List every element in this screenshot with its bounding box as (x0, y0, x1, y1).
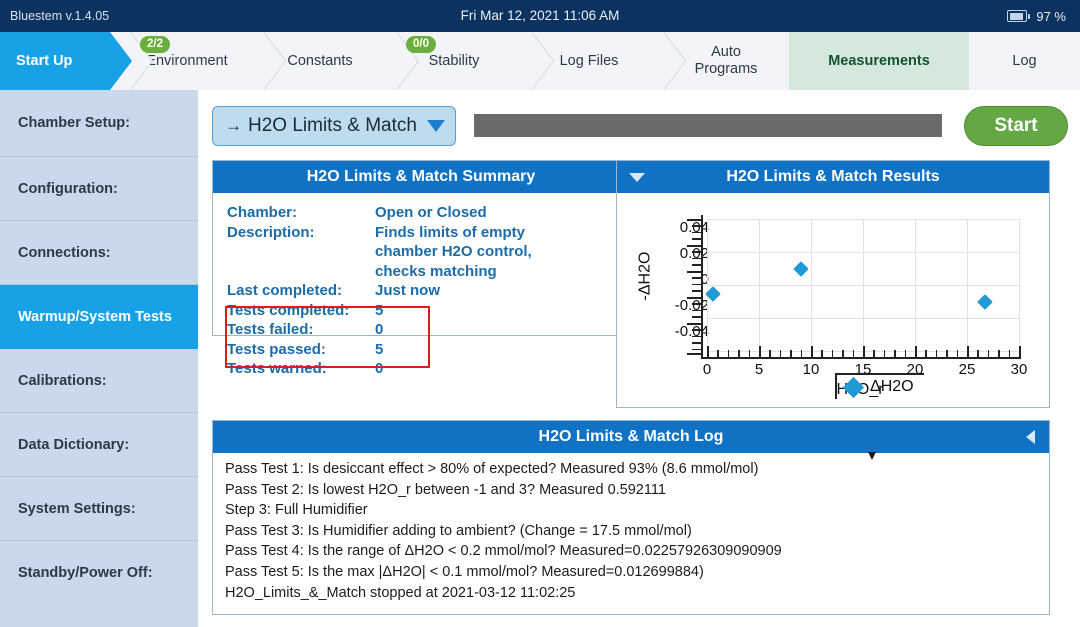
summary-value: 0 (375, 359, 383, 379)
summary-value: 5 (375, 340, 383, 360)
test-select-value: H2O Limits & Match (248, 115, 417, 137)
x-tick: 25 (959, 361, 976, 378)
summary-row-chamber: Chamber: Open or Closed (227, 203, 629, 223)
log-line: Pass Test 4: Is the range of ΔH2O < 0.2 … (225, 541, 1049, 562)
summary-value: Finds limits of empty (375, 223, 525, 243)
summary-description-cont-2: checks matching (375, 262, 629, 282)
tab-log[interactable]: Log (969, 32, 1080, 90)
sidebar-item-configuration[interactable]: Configuration: (0, 157, 198, 221)
triangle-left-icon[interactable] (1026, 421, 1035, 453)
tab-label-line1: Auto (711, 44, 741, 61)
log-panel: H2O Limits & Match Log Pass Test 1: Is d… (212, 420, 1050, 615)
tab-label: Log (1012, 53, 1036, 70)
main-content: → H2O Limits & Match Start H2O Limits & … (198, 90, 1080, 627)
sidebar-item-chamber-setup[interactable]: Chamber Setup: (0, 90, 198, 157)
log-panel-title: H2O Limits & Match Log (539, 428, 724, 446)
battery-percent-label: 97 % (1036, 9, 1066, 24)
progress-bar (474, 114, 942, 137)
sidebar-item-label: Configuration: (18, 181, 118, 197)
summary-key: Chamber: (227, 203, 375, 223)
y-tick: -0.02 (635, 297, 709, 314)
tab-label: Log Files (560, 53, 619, 70)
tab-label: Measurements (828, 53, 930, 70)
main-tab-bar: Start Up 2/2 Environment Constants 0/0 S… (0, 32, 1080, 91)
summary-row-tests-passed: Tests passed: 5 (227, 340, 629, 360)
mouse-cursor-icon (868, 452, 876, 460)
tab-label: Stability (429, 53, 480, 70)
sidebar-item-calibrations[interactable]: Calibrations: (0, 349, 198, 413)
top-status-bar: Bluestem v.1.4.05 Fri Mar 12, 2021 11:06… (0, 0, 1080, 32)
tab-auto-programs[interactable]: Auto Programs (665, 32, 787, 90)
summary-panel-title: H2O Limits & Match Summary (307, 168, 536, 186)
summary-row-description: Description: Finds limits of empty (227, 223, 629, 243)
results-panel: H2O Limits & Match Results -ΔH2O 0.04 0.… (616, 160, 1050, 408)
x-tick: 30 (1011, 361, 1028, 378)
summary-row-tests-warned: Tests warned: 0 (227, 359, 629, 379)
tab-label: Constants (287, 53, 352, 70)
tab-start-up[interactable]: Start Up (0, 32, 110, 90)
start-button[interactable]: Start (964, 106, 1068, 146)
chart-y-axis (701, 215, 703, 357)
y-tick: 0.04 (635, 219, 709, 236)
log-line: Pass Test 3: Is Humidifier adding to amb… (225, 521, 1049, 542)
tab-measurements[interactable]: Measurements (789, 32, 969, 90)
battery-icon (1007, 10, 1027, 22)
log-line: Step 3: Full Humidifier (225, 500, 1049, 521)
sidebar-item-label: Warmup/System Tests (18, 309, 172, 325)
chart-data-point (793, 261, 809, 277)
summary-row-tests-completed: Tests completed: 5 (227, 301, 629, 321)
sidebar-item-system-settings[interactable]: System Settings: (0, 477, 198, 541)
results-panel-header: H2O Limits & Match Results (617, 161, 1049, 193)
tab-label: Environment (146, 53, 227, 70)
battery-status: 97 % (1007, 0, 1066, 32)
arrow-right-icon: → (225, 116, 242, 136)
log-line: H2O_Limits_&_Match stopped at 2021-03-12… (225, 583, 1049, 604)
chevron-down-icon (427, 120, 445, 132)
x-tick: 0 (703, 361, 711, 378)
sidebar-item-label: Standby/Power Off: (18, 565, 153, 581)
summary-panel-header: H2O Limits & Match Summary (213, 161, 629, 193)
x-tick: 5 (755, 361, 763, 378)
datetime-label: Fri Mar 12, 2021 11:06 AM (0, 0, 1080, 32)
sidebar-item-standby-power-off[interactable]: Standby/Power Off: (0, 541, 198, 605)
sidebar-item-label: Calibrations: (18, 373, 107, 389)
results-panel-title: H2O Limits & Match Results (726, 168, 939, 186)
summary-value: Open or Closed (375, 203, 487, 223)
tab-constants[interactable]: Constants (265, 32, 375, 90)
summary-key: Tests completed: (227, 301, 375, 321)
log-line: Pass Test 1: Is desiccant effect > 80% o… (225, 459, 1049, 480)
tab-badge-environment: 2/2 (140, 36, 170, 53)
summary-panel: H2O Limits & Match Summary Chamber: Open… (212, 160, 630, 336)
legend-diamond-icon (843, 376, 864, 397)
tab-stability[interactable]: 0/0 Stability (398, 32, 510, 90)
chevron-down-icon[interactable] (629, 161, 645, 193)
chart-legend: ΔH2O (835, 373, 924, 399)
sidebar-item-label: Chamber Setup: (18, 115, 130, 131)
sidebar-item-label: System Settings: (18, 501, 136, 517)
summary-value: 5 (375, 301, 383, 321)
sidebar-item-warmup-system-tests[interactable]: Warmup/System Tests (0, 285, 198, 349)
summary-row-last-completed: Last completed: Just now (227, 281, 629, 301)
summary-value: 0 (375, 320, 383, 340)
test-toolbar: → H2O Limits & Match Start (212, 106, 1068, 148)
tab-log-files[interactable]: Log Files (533, 32, 645, 90)
summary-key: Last completed: (227, 281, 375, 301)
summary-key: Tests warned: (227, 359, 375, 379)
chart-data-point (977, 294, 993, 310)
legend-label: ΔH2O (870, 378, 914, 396)
tab-badge-stability: 0/0 (406, 36, 436, 53)
results-chart: -ΔH2O 0.04 0.02 0 -0.02 -0.04 (617, 193, 1049, 407)
summary-body: Chamber: Open or Closed Description: Fin… (213, 193, 629, 379)
log-panel-header: H2O Limits & Match Log (213, 421, 1049, 453)
summary-value: Just now (375, 281, 440, 301)
test-select-dropdown[interactable]: → H2O Limits & Match (212, 106, 456, 146)
y-tick: 0.02 (635, 245, 709, 262)
chart-x-axis (701, 357, 1021, 359)
tab-label-line2: Programs (695, 61, 758, 78)
y-tick: -0.04 (635, 323, 709, 340)
summary-key: Tests passed: (227, 340, 375, 360)
log-line: Pass Test 5: Is the max |ΔH2O| < 0.1 mmo… (225, 562, 1049, 583)
y-tick: 0 (635, 271, 709, 288)
log-body[interactable]: Pass Test 1: Is desiccant effect > 80% o… (213, 453, 1049, 603)
sidebar-item-label: Data Dictionary: (18, 437, 129, 453)
summary-key: Tests failed: (227, 320, 375, 340)
sidebar-nav: Chamber Setup: Configuration: Connection… (0, 90, 198, 627)
summary-key: Description: (227, 223, 375, 243)
sidebar-item-label: Connections: (18, 245, 111, 261)
tab-label: Start Up (16, 53, 72, 70)
summary-description-cont-1: chamber H2O control, (375, 242, 629, 262)
sidebar-item-data-dictionary[interactable]: Data Dictionary: (0, 413, 198, 477)
application-window: Bluestem v.1.4.05 Fri Mar 12, 2021 11:06… (0, 0, 1080, 627)
x-tick: 10 (803, 361, 820, 378)
log-line: Pass Test 2: Is lowest H2O_r between -1 … (225, 480, 1049, 501)
chart-plot-area (707, 219, 1019, 351)
tab-environment[interactable]: 2/2 Environment (132, 32, 242, 90)
summary-row-tests-failed: Tests failed: 0 (227, 320, 629, 340)
sidebar-item-connections[interactable]: Connections: (0, 221, 198, 285)
